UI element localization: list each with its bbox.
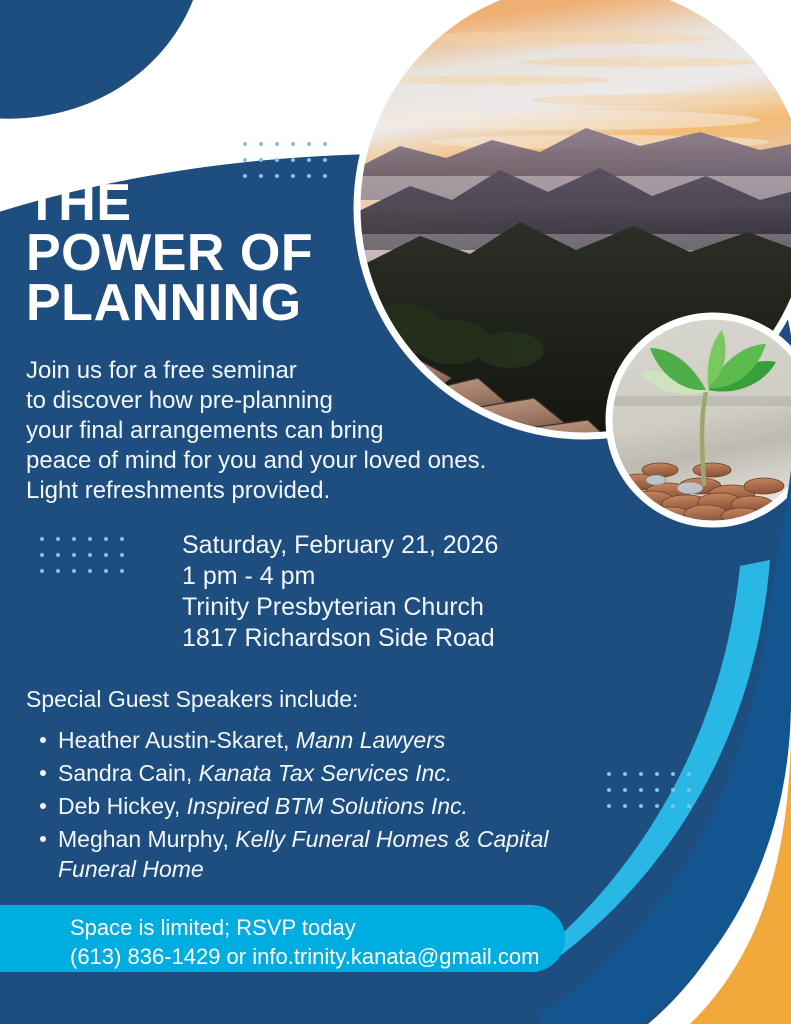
intro-line-3: your final arrangements can bring [26,416,546,446]
speaker-name: Heather Austin-Skaret, [58,727,289,753]
dot [104,569,108,573]
speaker-name: Meghan Murphy, [58,826,229,852]
dot-row [607,772,703,788]
dot [259,158,263,162]
dot-row [607,788,703,804]
dot [243,158,247,162]
dot [104,553,108,557]
intro-line-5: Light refreshments provided. [26,476,546,506]
speaker-item: Meghan Murphy, Kelly Funeral Homes & Cap… [26,824,566,884]
dot [72,537,76,541]
speakers-heading: Special Guest Speakers include: [26,686,566,713]
title-line-3: PLANNING [26,278,446,328]
event-details: Saturday, February 21, 2026 1 pm - 4 pm … [182,530,602,654]
dot [104,537,108,541]
dot [655,804,659,808]
dot-row [243,142,339,158]
dot [687,772,691,776]
dot [275,158,279,162]
event-date: Saturday, February 21, 2026 [182,530,602,561]
dot-row [40,537,136,553]
event-time: 1 pm - 4 pm [182,561,602,592]
dot [120,569,124,573]
speaker-item: Deb Hickey, Inspired BTM Solutions Inc. [26,791,566,821]
dot [88,537,92,541]
speaker-org: Kanata Tax Services Inc. [199,760,453,786]
dot [687,788,691,792]
dot [291,142,295,146]
rsvp-line-1: Space is limited; RSVP today [70,913,540,942]
dot [291,158,295,162]
dot [623,804,627,808]
speakers-list: Heather Austin-Skaret, Mann Lawyers Sand… [26,725,566,884]
dot [607,788,611,792]
dot [671,804,675,808]
title-line-2: POWER OF [26,228,446,278]
intro-paragraph: Join us for a free seminar to discover h… [26,356,546,506]
dot [687,804,691,808]
dot-row [40,569,136,585]
speaker-name: Sandra Cain, [58,760,192,786]
poster-title: THE POWER OF PLANNING [26,178,446,328]
dot [671,772,675,776]
dot [655,772,659,776]
footer-navy-strip [0,972,560,1024]
dot-row [607,804,703,820]
dot-row [40,553,136,569]
dot-grid-decor-middle [40,537,136,585]
poster-canvas: THE POWER OF PLANNING Join us for a free… [0,0,791,1024]
dot [72,553,76,557]
intro-line-2: to discover how pre-planning [26,386,546,416]
dot [307,142,311,146]
speaker-org: Inspired BTM Solutions Inc. [187,793,468,819]
event-venue: Trinity Presbyterian Church [182,592,602,623]
dot-row [243,158,339,174]
dot [323,142,327,146]
dot [243,142,247,146]
intro-line-1: Join us for a free seminar [26,356,546,386]
speaker-item: Heather Austin-Skaret, Mann Lawyers [26,725,566,755]
speaker-item: Sandra Cain, Kanata Tax Services Inc. [26,758,566,788]
dot [88,553,92,557]
event-address: 1817 Richardson Side Road [182,623,602,654]
dot [323,158,327,162]
dot [56,569,60,573]
dot [40,537,44,541]
dot-grid-decor-right [607,772,703,820]
dot [120,537,124,541]
dot [671,788,675,792]
speaker-org: Mann Lawyers [296,727,446,753]
dot [639,772,643,776]
dot [307,158,311,162]
dot [623,772,627,776]
speakers-section: Special Guest Speakers include: Heather … [26,686,566,887]
title-line-1: THE [26,178,446,228]
dot [88,569,92,573]
dot [639,804,643,808]
rsvp-text: Space is limited; RSVP today (613) 836-1… [70,913,540,971]
dot [120,553,124,557]
dot [56,553,60,557]
dot [40,553,44,557]
intro-line-4: peace of mind for you and your loved one… [26,446,546,476]
dot [275,142,279,146]
rsvp-contact[interactable]: (613) 836-1429 or info.trinity.kanata@gm… [70,942,540,971]
dot [259,142,263,146]
dot [655,788,659,792]
dot [40,569,44,573]
dot [72,569,76,573]
dot [607,804,611,808]
dot [56,537,60,541]
speaker-name: Deb Hickey, [58,793,180,819]
dot [623,788,627,792]
dot [607,772,611,776]
dot [639,788,643,792]
